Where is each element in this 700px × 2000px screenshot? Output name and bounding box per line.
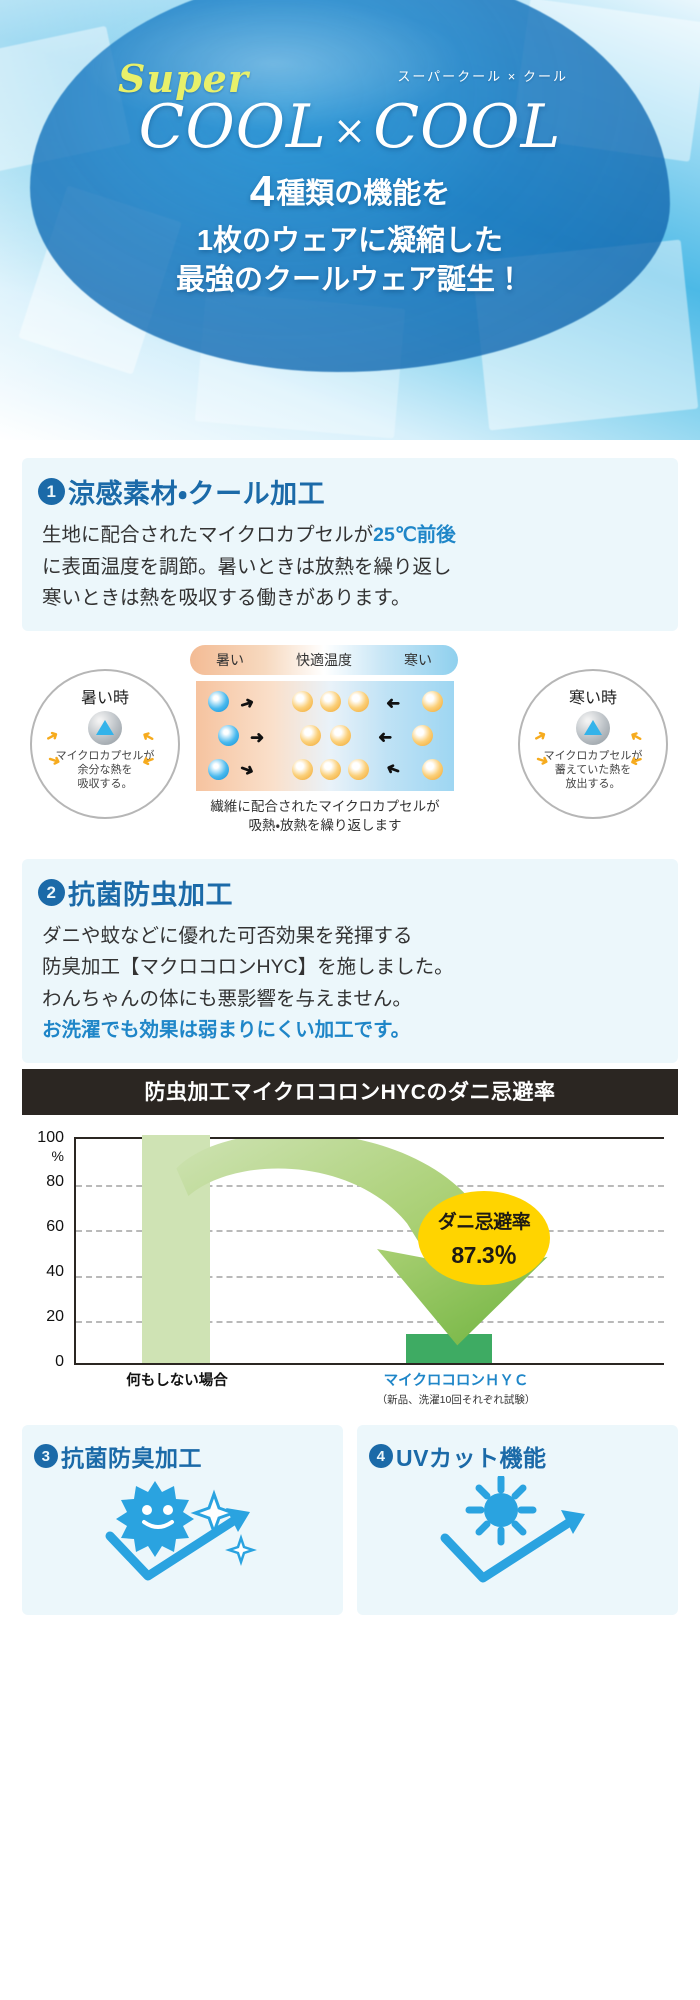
cold-state-bubble: 寒い時 マイクロカプセルが蓄えていた熱を放出する。 ➜ ➜ ➜ ➜: [518, 669, 668, 819]
hero-banner: Super スーパークール × クール COOL×COOL 4種類の機能を 1枚…: [0, 0, 700, 440]
section-3-card: 3 抗菌防臭加工: [22, 1425, 343, 1615]
section-4-title: UVカット機能: [396, 1439, 546, 1473]
section-2-body-line4: お洗濯でも効果は弱まりにくい加工です。: [42, 1015, 662, 1047]
hero-count-number: 4: [250, 167, 276, 216]
section-1-card: 1 涼感素材・クール加工 生地に配合されたマイクロカプセルが25℃前後 に表面温…: [22, 458, 678, 631]
y-tick-100: 100: [22, 1129, 64, 1147]
arrow-left-icon: ➜: [386, 695, 400, 712]
y-tick-40: 40: [22, 1263, 64, 1281]
heat-ray-icon: ➜: [139, 727, 157, 746]
section-2-number-badge: 2: [38, 879, 65, 906]
section-2-body-line2: 防臭加工【マクロコロンHYC】を施しました。: [42, 952, 662, 984]
diagram-legend-bar: 暑い 快適温度 寒い: [190, 645, 458, 675]
x-label-hyc: マイクロコロンＨＹＣ （新品、洗濯10回それぞれ試験）: [356, 1369, 556, 1407]
x-label-none: 何もしない場合: [112, 1369, 242, 1390]
section-2-body: ダニや蚊などに優れた可否効果を発揮する 防臭加工【マクロコロンHYC】を施しまし…: [38, 921, 662, 1047]
arrow-right-icon: ➜: [238, 693, 257, 714]
thermal-regulation-diagram: 暑い 快適温度 寒い ➜ ➜ ➜ ➜ ➜ ➜: [0, 639, 700, 859]
section-4-icon-area: [369, 1473, 666, 1593]
hero-tagline-line3: 最強のクールウェア誕生！: [0, 261, 700, 300]
x-label-hyc-main: マイクロコロンＨＹＣ: [384, 1373, 529, 1389]
badge-value: 87.3％: [451, 1236, 516, 1270]
y-axis-unit: %: [22, 1148, 64, 1164]
hero-tagline: 4種類の機能を 1枚のウェアに凝縮した 最強のクールウェア誕生！: [0, 162, 700, 301]
chart-title: 防虫加工マイクロコロンHYCのダニ忌避率: [22, 1069, 678, 1115]
legend-hot: 暑い: [216, 650, 244, 670]
heat-ray-icon: ➜: [43, 727, 61, 746]
sun-deflect-icon: [423, 1476, 613, 1591]
hero-wordmark: COOL×COOL: [0, 92, 700, 162]
capsule-cold: [208, 691, 229, 712]
section-1-body: 生地に配合されたマイクロカプセルが25℃前後 に表面温度を調節。暑いときは放熱を…: [38, 520, 662, 615]
heat-ray-icon: ➜: [627, 727, 645, 746]
capsule-cold: [208, 759, 229, 780]
capsule-warm: [330, 725, 351, 746]
capsule-warm: [292, 759, 313, 780]
mite-repellency-badge: ダニ忌避率 87.3％: [418, 1191, 550, 1285]
section-4-heading: 4 UVカット機能: [369, 1439, 666, 1473]
hot-state-bubble: 暑い時 マイクロカプセルが余分な熱を吸収する。 ➜ ➜ ➜ ➜: [30, 669, 180, 819]
x-label-hyc-sub: （新品、洗濯10回それぞれ試験）: [356, 1392, 556, 1407]
y-tick-80: 80: [22, 1173, 64, 1191]
capsule-warm: [320, 759, 341, 780]
section-3-icon-area: [34, 1473, 331, 1593]
capsule-warm: [320, 691, 341, 712]
diagram-caption-line1: 繊維に配合されたマイクロカプセルが: [160, 797, 490, 817]
section-1-title: 涼感素材・クール加工: [68, 472, 325, 511]
capsule-warm: [348, 691, 369, 712]
microcapsule-icon: [88, 711, 122, 745]
cold-state-title: 寒い時: [520, 684, 666, 708]
hero-tagline-line2: 1枚のウェアに凝縮した: [0, 222, 700, 261]
bottom-feature-row: 3 抗菌防臭加工 4 UVカット機能: [22, 1425, 678, 1615]
arrow-right-icon: ➜: [238, 759, 257, 780]
section-2-title: 抗菌防虫加工: [68, 873, 233, 912]
section-3-heading: 3 抗菌防臭加工: [34, 1439, 331, 1473]
capsule-warm: [348, 759, 369, 780]
wordmark-right: COOL: [373, 92, 561, 162]
hot-state-title: 暑い時: [32, 684, 178, 708]
section-2-card: 2 抗菌防虫加工 ダニや蚊などに優れた可否効果を発揮する 防臭加工【マクロコロン…: [22, 859, 678, 1063]
section-1-number-badge: 1: [38, 478, 65, 505]
chart-plot-area: [74, 1137, 664, 1365]
diagram-caption: 繊維に配合されたマイクロカプセルが 吸熱・放熱を繰り返します: [160, 797, 490, 836]
hero-tagline-line1-rest: 種類の機能を: [276, 178, 450, 210]
section-2-body-line1: ダニや蚊などに優れた可否効果を発揮する: [42, 921, 662, 953]
legend-comfortable: 快適温度: [296, 650, 352, 670]
section-1-temperature-highlight: 25℃前後: [373, 524, 456, 546]
section-3-number-badge: 3: [34, 1444, 58, 1468]
diagram-panel: ➜ ➜ ➜ ➜ ➜ ➜: [196, 681, 454, 791]
wordmark-left: COOL: [139, 92, 327, 162]
microcapsule-icon: [576, 711, 610, 745]
infographic-page: Super スーパークール × クール COOL×COOL 4種類の機能を 1枚…: [0, 0, 700, 2000]
y-tick-60: 60: [22, 1218, 64, 1236]
arrow-left-icon: ➜: [384, 759, 403, 780]
hero-tagline-line1: 4種類の機能を: [0, 162, 700, 222]
section-1-body-line3: 寒いときは熱を吸収する働きがあります。: [42, 583, 662, 615]
capsule-warm: [300, 725, 321, 746]
heat-ray-icon: ➜: [531, 727, 549, 746]
section-4-card: 4 UVカット機能: [357, 1425, 678, 1615]
section-1-body-line1: 生地に配合されたマイクロカプセルが25℃前後: [42, 520, 662, 552]
section-2-body-line3: わんちゃんの体にも悪影響を与えません。: [42, 984, 662, 1016]
germ-deflect-icon: [88, 1476, 278, 1591]
legend-cold: 寒い: [404, 650, 432, 670]
section-3-title: 抗菌防臭加工: [61, 1439, 202, 1473]
section-1-body-line1-a: 生地に配合されたマイクロカプセルが: [42, 524, 373, 546]
capsule-warm: [292, 691, 313, 712]
y-tick-0: 0: [22, 1353, 64, 1371]
capsule-warm: [412, 725, 433, 746]
arrow-right-icon: ➜: [250, 729, 264, 746]
diagram-caption-line2: 吸熱・放熱を繰り返します: [160, 816, 490, 836]
chart-plot: 100 % 80 60 40 20 0: [22, 1129, 678, 1399]
capsule-cold: [218, 725, 239, 746]
capsule-warm: [422, 691, 443, 712]
y-tick-20: 20: [22, 1308, 64, 1326]
badge-label: ダニ忌避率: [438, 1207, 531, 1234]
arrow-left-icon: ➜: [378, 729, 392, 746]
wordmark-times: ×: [327, 108, 374, 154]
section-1-body-line2: に表面温度を調節。暑いときは放熱を繰り返し: [42, 552, 662, 584]
bar-none: [142, 1135, 210, 1363]
section-2-heading: 2 抗菌防虫加工: [38, 873, 662, 912]
capsule-warm: [422, 759, 443, 780]
section-4-number-badge: 4: [369, 1444, 393, 1468]
section-1-heading: 1 涼感素材・クール加工: [38, 472, 662, 511]
bar-hyc: [406, 1334, 492, 1363]
hero-kana-subtitle: スーパークール × クール: [397, 66, 568, 85]
mite-repellency-chart: 防虫加工マイクロコロンHYCのダニ忌避率 100 % 80 60 40 20 0: [22, 1069, 678, 1399]
